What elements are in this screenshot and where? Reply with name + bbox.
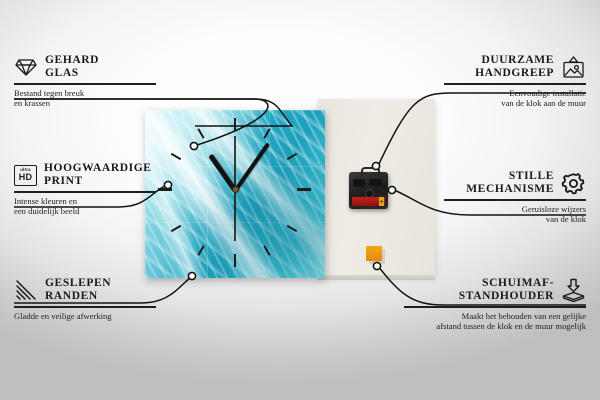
- callout-desc-line2: van de klok aan de muur: [444, 98, 586, 109]
- callout-rule: [14, 306, 156, 308]
- quartz-mechanism: [349, 172, 388, 209]
- battery-plus-terminal: [379, 197, 384, 206]
- callout-rule: [14, 83, 156, 85]
- clock-dial: [145, 110, 325, 278]
- gear-icon: [561, 171, 586, 196]
- callout-title-line2: PRINT: [44, 175, 152, 188]
- hour-tick-1: [263, 128, 270, 139]
- hour-tick-9: [158, 188, 172, 191]
- callout-stille-mechanisme: STILLE MECHANISME Geruisloze wijzers van…: [444, 170, 586, 225]
- callout-rule: [404, 306, 586, 308]
- callout-title-line2: RANDEN: [45, 290, 111, 303]
- callout-title-line1: HOOGWAARDIGE: [44, 162, 152, 175]
- callout-rule: [444, 83, 586, 85]
- ultra-hd-icon-bottom: HD: [19, 173, 32, 182]
- callout-title-line1: SCHUIMAF-: [404, 277, 554, 290]
- callout-header: ultra HD HOOGWAARDIGE PRINT: [14, 162, 156, 188]
- callout-hoogwaardige-print: ultra HD HOOGWAARDIGE PRINT Intense kleu…: [14, 162, 156, 217]
- hanging-picture-icon: [561, 56, 586, 79]
- ultra-hd-icon: ultra HD: [14, 165, 37, 186]
- clock-glass-face: [145, 110, 325, 278]
- callout-rule: [14, 191, 156, 193]
- callout-schuimafstandhouder: SCHUIMAF- STANDHOUDER Maakt het behouden…: [404, 277, 586, 332]
- diamond-icon: [14, 57, 38, 77]
- callout-title-line1: GESLEPEN: [45, 277, 111, 290]
- callout-desc-line2: een duidelijk beeld: [14, 206, 156, 217]
- callout-desc-line1: Maakt het behouden van een gelijke: [404, 311, 586, 322]
- callout-desc-line1: Intense kleuren en: [14, 196, 156, 207]
- hour-tick-8: [171, 225, 182, 232]
- callout-title-line1: GEHARD: [45, 54, 99, 67]
- press-down-pad-icon: [561, 278, 586, 302]
- callout-geslepen-randen: GESLEPEN RANDEN Gladde en veilige afwerk…: [14, 277, 156, 321]
- callout-desc-line1: Bestand tegen breuk: [14, 88, 156, 99]
- product-infographic: GEHARD GLAS Bestand tegen breuk en krass…: [0, 0, 600, 400]
- callout-title-line2: HANDGREEP: [475, 67, 554, 80]
- clock-center-pin: [232, 186, 239, 193]
- callout-header: STILLE MECHANISME: [444, 170, 586, 196]
- mechanism-slot-right: [369, 179, 382, 186]
- foam-spacer: [366, 246, 382, 261]
- callout-header: GEHARD GLAS: [14, 54, 156, 80]
- callout-duurzame-handgreep: DUURZAME HANDGREEP Eenvoudige installati…: [444, 54, 586, 109]
- callout-gehard-glas: GEHARD GLAS Bestand tegen breuk en krass…: [14, 54, 156, 109]
- hour-tick-7: [197, 245, 204, 256]
- bevelled-edges-icon: [14, 279, 38, 301]
- callout-title-line2: MECHANISME: [466, 183, 554, 196]
- callout-desc-line1: Gladde en veilige afwerking: [14, 311, 156, 322]
- callout-rule: [444, 199, 586, 201]
- mechanism-slot-left: [353, 179, 365, 187]
- minute-hand: [233, 142, 270, 192]
- battery: [352, 197, 385, 206]
- callout-title-line1: DUURZAME: [475, 54, 554, 67]
- callout-desc-line2: en krassen: [14, 98, 156, 109]
- hour-tick-4: [287, 225, 298, 232]
- hour-tick-6: [234, 254, 236, 267]
- callout-desc-line1: Geruisloze wijzers: [444, 204, 586, 215]
- hour-tick-5: [263, 245, 270, 256]
- hour-tick-12: [234, 118, 236, 131]
- callout-title-line1: STILLE: [466, 170, 554, 183]
- callout-desc-line1: Eenvoudige installatie: [444, 88, 586, 99]
- callout-title-line2: STANDHOUDER: [404, 290, 554, 303]
- hour-tick-2: [287, 153, 298, 160]
- hour-tick-10: [171, 153, 182, 160]
- callout-desc-line2: van de klok: [444, 214, 586, 225]
- callout-header: DUURZAME HANDGREEP: [444, 54, 586, 80]
- callout-header: GESLEPEN RANDEN: [14, 277, 156, 303]
- callout-desc-line2: afstand tussen de klok en de muur mogeli…: [404, 321, 586, 332]
- hour-tick-3: [297, 188, 311, 191]
- hour-tick-11: [197, 128, 204, 139]
- callout-header: SCHUIMAF- STANDHOUDER: [404, 277, 586, 303]
- callout-title-line2: GLAS: [45, 67, 99, 80]
- mechanism-hanger-icon: [361, 167, 380, 176]
